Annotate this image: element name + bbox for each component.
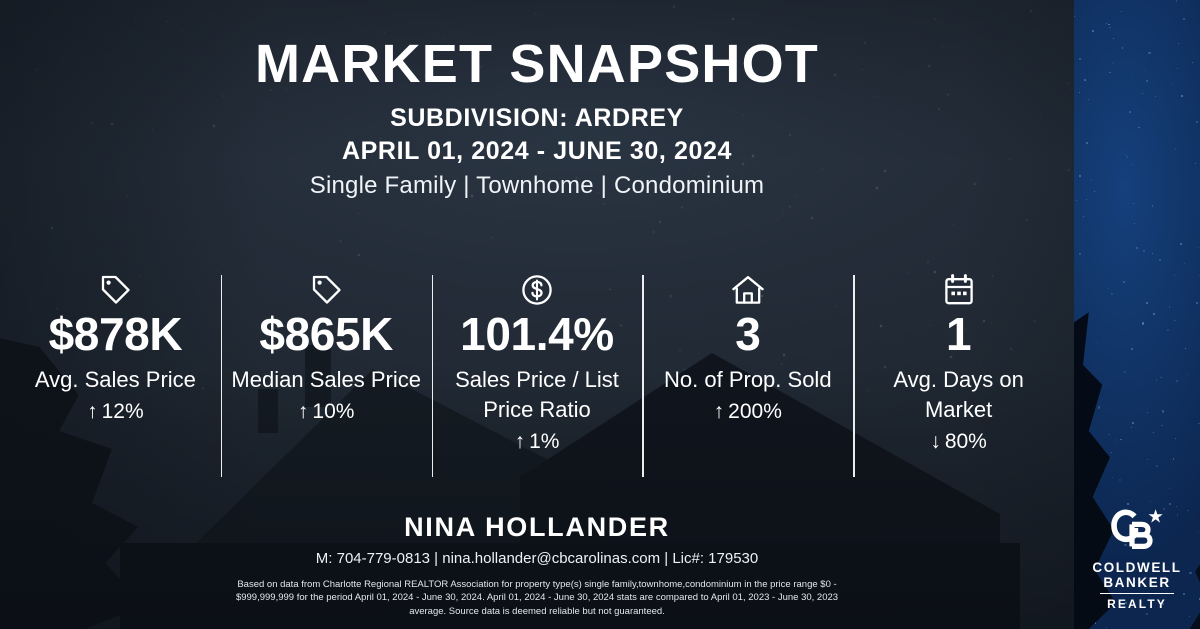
stat-value: 3	[735, 310, 760, 359]
stat-change: ↓80%	[930, 430, 987, 454]
calendar-icon	[943, 272, 975, 308]
price-tag-icon	[308, 272, 344, 308]
brand-name-line-1: COLDWELL	[1092, 560, 1181, 575]
stat-card-avg-sales-price: $878K Avg. Sales Price ↑12%	[10, 272, 221, 424]
stat-change-value: 80%	[945, 430, 987, 453]
stat-label: Median Sales Price	[231, 365, 421, 395]
house-icon	[730, 272, 766, 308]
stat-change: ↑1%	[515, 430, 560, 454]
stat-label: Avg. Days on Market	[859, 365, 1058, 425]
property-types: Single Family | Townhome | Condominium	[310, 172, 764, 200]
trend-arrow-up-icon: ↑	[714, 400, 725, 423]
page-title: MARKET SNAPSHOT	[255, 36, 819, 93]
trend-arrow-down-icon: ↓	[930, 430, 941, 453]
stat-card-properties-sold: 3 No. of Prop. Sold ↑200%	[642, 272, 853, 424]
agent-contact-line: M: 704-779-0813 | nina.hollander@cbcarol…	[316, 550, 758, 567]
stat-change: ↑200%	[714, 400, 782, 424]
cb-monogram-icon	[1108, 507, 1166, 553]
subdivision-subtitle: SUBDIVISION: ARDREY	[390, 104, 684, 133]
stat-label: No. of Prop. Sold	[664, 365, 832, 395]
coldwell-banker-logo: COLDWELL BANKER REALTY	[1074, 507, 1200, 612]
stat-card-avg-days-on-market: 1 Avg. Days on Market ↓80%	[853, 272, 1064, 454]
stat-label: Avg. Sales Price	[35, 365, 196, 395]
brand-name-line-3: REALTY	[1107, 597, 1167, 611]
coldwell-banker-brand-panel: COLDWELL BANKER REALTY	[1074, 0, 1200, 629]
stat-card-median-sales-price: $865K Median Sales Price ↑10%	[221, 272, 432, 424]
price-tag-icon	[97, 272, 133, 308]
stat-label: Sales Price / List Price Ratio	[438, 365, 637, 425]
stat-change: ↑12%	[87, 400, 144, 424]
stat-change-value: 1%	[529, 430, 559, 453]
stat-change-value: 200%	[728, 400, 782, 423]
footer: NINA HOLLANDER M: 704-779-0813 | nina.ho…	[0, 512, 1074, 618]
stat-change: ↑10%	[298, 400, 355, 424]
brand-name-line-2: BANKER	[1103, 575, 1170, 590]
stat-value: 1	[946, 310, 971, 359]
main-content: MARKET SNAPSHOT SUBDIVISION: ARDREY APRI…	[0, 0, 1074, 629]
stat-card-sales-to-list-ratio: 101.4% Sales Price / List Price Ratio ↑1…	[432, 272, 643, 454]
trend-arrow-up-icon: ↑	[515, 430, 526, 453]
stat-value: $878K	[49, 310, 183, 359]
stat-value: $865K	[259, 310, 393, 359]
stat-change-value: 10%	[312, 400, 354, 423]
trend-arrow-up-icon: ↑	[298, 400, 309, 423]
brand-divider	[1100, 593, 1174, 595]
stats-row: $878K Avg. Sales Price ↑12% $865K Median…	[10, 272, 1064, 482]
disclaimer-text: Based on data from Charlotte Regional RE…	[217, 578, 857, 618]
stat-change-value: 12%	[102, 400, 144, 423]
date-range: APRIL 01, 2024 - JUNE 30, 2024	[342, 137, 732, 166]
trend-arrow-up-icon: ↑	[87, 400, 98, 423]
stat-value: 101.4%	[460, 310, 614, 359]
dollar-circle-icon	[520, 272, 554, 308]
agent-name: NINA HOLLANDER	[404, 512, 670, 543]
